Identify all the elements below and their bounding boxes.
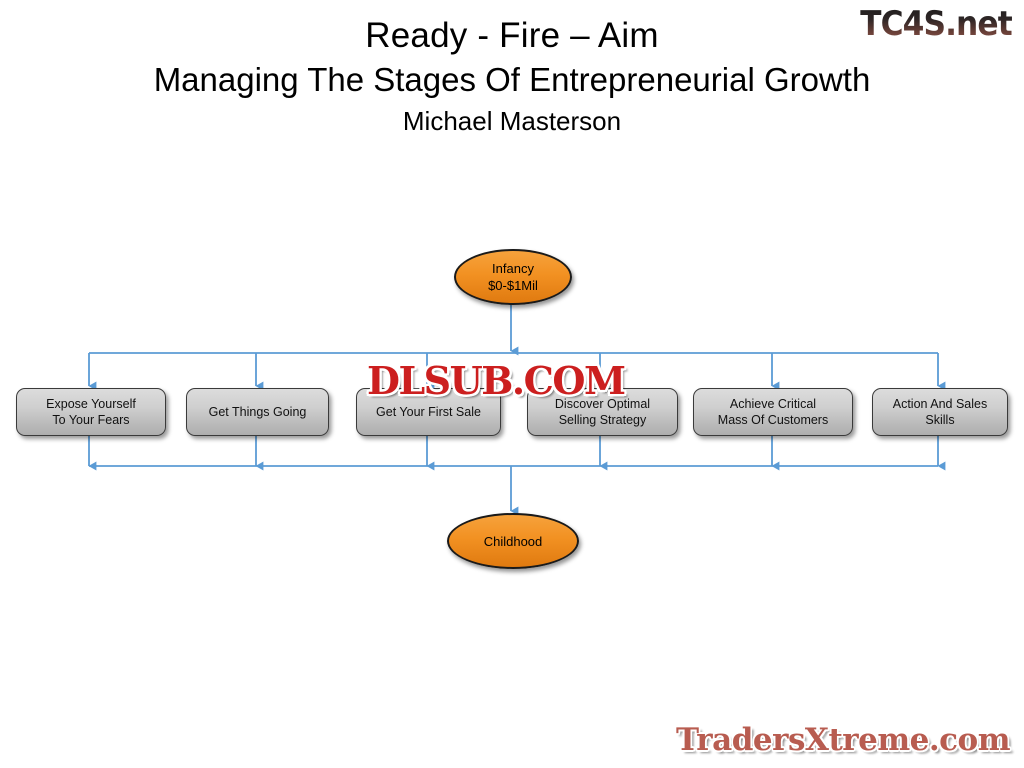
task-box[interactable]: Achieve Critical Mass Of Customers	[693, 388, 853, 436]
task-line-2: Selling Strategy	[559, 413, 647, 427]
task-box-label: Get Things Going	[205, 404, 311, 420]
childhood-stage-oval[interactable]: Childhood	[447, 513, 579, 569]
infancy-stage-label: Infancy	[492, 260, 534, 277]
dlsub-watermark-logo: DLSUB.COM	[367, 358, 625, 403]
task-line-1: Expose Yourself	[46, 397, 136, 411]
task-box-label: Get Your First Sale	[372, 404, 485, 420]
infancy-stage-revenue: $0-$1Mil	[488, 277, 538, 294]
task-box[interactable]: Expose Yourself To Your Fears	[16, 388, 166, 436]
task-line-2: Mass Of Customers	[718, 413, 828, 427]
task-box[interactable]: Action And Sales Skills	[872, 388, 1008, 436]
task-box-label: Action And Sales Skills	[889, 396, 992, 428]
task-line-1: Get Things Going	[209, 405, 307, 419]
task-line-1: Get Your First Sale	[376, 405, 481, 419]
task-box[interactable]: Get Things Going	[186, 388, 329, 436]
childhood-stage-label: Childhood	[484, 533, 543, 550]
infancy-stage-oval[interactable]: Infancy $0-$1Mil	[454, 249, 572, 305]
task-line-1: Action And Sales	[893, 397, 988, 411]
task-box-label: Expose Yourself To Your Fears	[42, 396, 140, 428]
task-line-2: Skills	[925, 413, 954, 427]
task-line-2: To Your Fears	[52, 413, 129, 427]
task-box-label: Achieve Critical Mass Of Customers	[714, 396, 832, 428]
task-line-1: Achieve Critical	[730, 397, 816, 411]
